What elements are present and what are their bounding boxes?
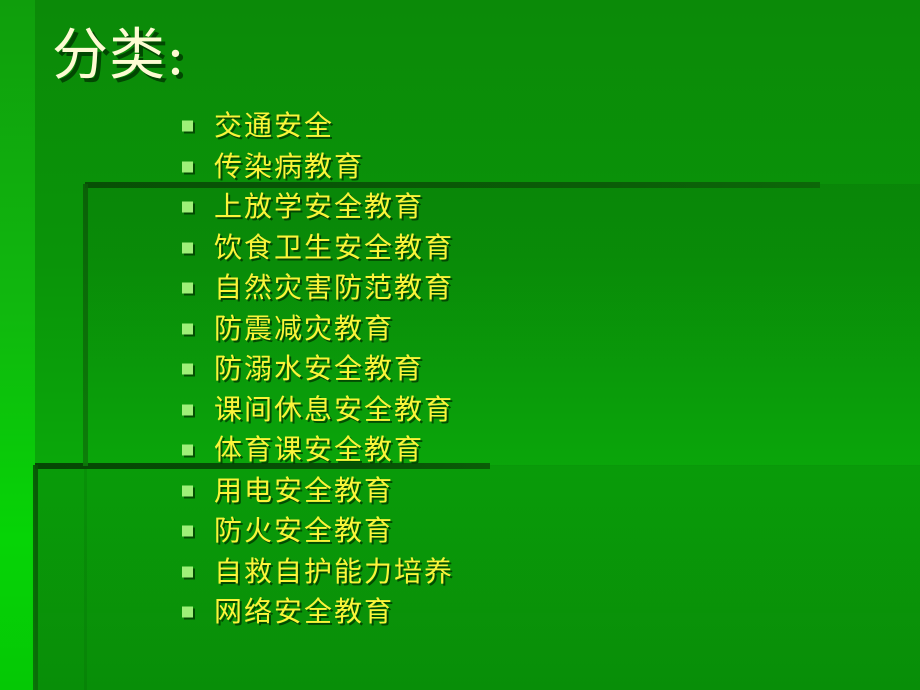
list-item-label: 防火安全教育	[214, 517, 394, 545]
list-item[interactable]: 饮食卫生安全教育	[178, 228, 454, 269]
square-bullet-icon	[182, 364, 193, 375]
bullet-list: 交通安全传染病教育上放学安全教育饮食卫生安全教育自然灾害防范教育防震减灾教育防溺…	[178, 106, 454, 633]
page-title: 分类:	[52, 28, 186, 84]
list-item-label: 网络安全教育	[214, 598, 394, 626]
square-bullet-icon	[182, 161, 193, 172]
list-item-label: 交通安全	[214, 112, 334, 140]
list-item[interactable]: 防震减灾教育	[178, 309, 454, 350]
list-item[interactable]: 自救自护能力培养	[178, 552, 454, 593]
list-item[interactable]: 交通安全	[178, 106, 454, 147]
square-bullet-icon	[182, 445, 193, 456]
square-bullet-icon	[182, 323, 193, 334]
list-item[interactable]: 自然灾害防范教育	[178, 268, 454, 309]
slide-content: 分类: 交通安全传染病教育上放学安全教育饮食卫生安全教育自然灾害防范教育防震减灾…	[0, 0, 920, 690]
presentation-slide: 分类: 交通安全传染病教育上放学安全教育饮食卫生安全教育自然灾害防范教育防震减灾…	[0, 0, 920, 690]
square-bullet-icon	[182, 404, 193, 415]
square-bullet-icon	[182, 283, 193, 294]
list-item-label: 用电安全教育	[214, 477, 394, 505]
square-bullet-icon	[182, 607, 193, 618]
square-bullet-icon	[182, 242, 193, 253]
list-item-label: 防溺水安全教育	[214, 355, 424, 383]
list-item-label: 饮食卫生安全教育	[214, 234, 454, 262]
list-item-label: 课间休息安全教育	[214, 396, 454, 424]
list-item-label: 自救自护能力培养	[214, 558, 454, 586]
square-bullet-icon	[182, 566, 193, 577]
list-item[interactable]: 上放学安全教育	[178, 187, 454, 228]
list-item-label: 传染病教育	[214, 153, 364, 181]
list-item-label: 上放学安全教育	[214, 193, 424, 221]
square-bullet-icon	[182, 202, 193, 213]
list-item[interactable]: 防火安全教育	[178, 511, 454, 552]
square-bullet-icon	[182, 526, 193, 537]
list-item[interactable]: 防溺水安全教育	[178, 349, 454, 390]
list-item-label: 体育课安全教育	[214, 436, 424, 464]
list-item[interactable]: 用电安全教育	[178, 471, 454, 512]
square-bullet-icon	[182, 121, 193, 132]
list-item-label: 防震减灾教育	[214, 315, 394, 343]
list-item[interactable]: 体育课安全教育	[178, 430, 454, 471]
list-item[interactable]: 网络安全教育	[178, 592, 454, 633]
list-item[interactable]: 传染病教育	[178, 147, 454, 188]
list-item[interactable]: 课间休息安全教育	[178, 390, 454, 431]
square-bullet-icon	[182, 485, 193, 496]
list-item-label: 自然灾害防范教育	[214, 274, 454, 302]
